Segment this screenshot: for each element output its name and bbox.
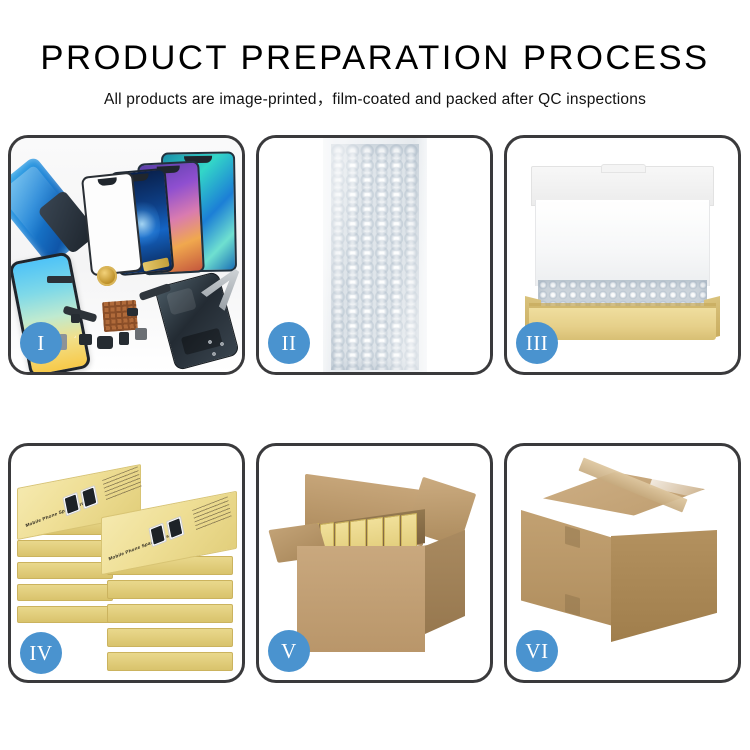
small-component bbox=[79, 334, 92, 345]
step-badge-2: II bbox=[268, 322, 310, 364]
box-edge bbox=[107, 652, 233, 671]
step-panel-6: VI bbox=[504, 443, 741, 683]
process-steps-grid: I II bbox=[8, 135, 742, 685]
phone-thumbnail bbox=[62, 492, 81, 517]
page-title: PRODUCT PREPARATION PROCESS bbox=[0, 38, 750, 78]
step-badge-5: V bbox=[268, 630, 310, 672]
box-edge bbox=[17, 606, 113, 623]
box-edge bbox=[17, 540, 113, 557]
box-spec-lines bbox=[192, 496, 232, 531]
open-mailer-box bbox=[525, 166, 720, 330]
box-inner-wall bbox=[535, 200, 710, 286]
small-component bbox=[135, 328, 147, 340]
small-component bbox=[97, 336, 113, 349]
phone-thumbnail bbox=[166, 516, 185, 541]
step-badge-3: III bbox=[516, 322, 558, 364]
product-preparation-infographic: PRODUCT PREPARATION PROCESS All products… bbox=[0, 0, 750, 750]
box-edge bbox=[107, 604, 233, 623]
plastic-sheen bbox=[323, 138, 427, 372]
step-badge-6: VI bbox=[516, 630, 558, 672]
page-subtitle: All products are image-printed，film-coat… bbox=[0, 87, 750, 109]
header: PRODUCT PREPARATION PROCESS All products… bbox=[0, 0, 750, 109]
box-artwork-thumbnails bbox=[148, 516, 184, 547]
step-badge-1: I bbox=[20, 322, 62, 364]
box-artwork-thumbnails bbox=[62, 485, 98, 516]
sealed-shipping-carton bbox=[521, 472, 727, 650]
speaker-part bbox=[47, 276, 73, 283]
step-badge-4: IV bbox=[20, 632, 62, 674]
open-shipping-carton bbox=[275, 468, 479, 664]
phone-thumbnail bbox=[148, 523, 167, 548]
step-panel-1: I bbox=[8, 135, 245, 375]
box-edge bbox=[107, 580, 233, 599]
box-front-lip bbox=[529, 303, 716, 308]
screws-group bbox=[206, 338, 232, 360]
small-component bbox=[127, 308, 138, 316]
tempered-glass-protector bbox=[81, 172, 143, 277]
step-panel-4: Mobile Phone Spare Parts Mobile Phone Sp… bbox=[8, 443, 245, 683]
step-panel-3: III bbox=[504, 135, 741, 375]
box-edge bbox=[17, 562, 113, 579]
copper-coil-part bbox=[97, 266, 117, 286]
step-panel-5: V bbox=[256, 443, 493, 683]
box-edge bbox=[17, 584, 113, 601]
carton-front-panel bbox=[297, 546, 425, 652]
chip-grid-part bbox=[102, 300, 138, 332]
box-spec-lines bbox=[102, 466, 142, 501]
small-component bbox=[119, 332, 129, 345]
step-panel-2: II bbox=[256, 135, 493, 375]
small-component bbox=[71, 314, 80, 323]
phone-notch bbox=[98, 177, 118, 186]
phone-thumbnail bbox=[80, 485, 99, 510]
carton-side-panel bbox=[425, 530, 465, 634]
carton-side-panel bbox=[611, 530, 717, 642]
box-edge bbox=[107, 628, 233, 647]
box-front-panel bbox=[529, 306, 716, 340]
